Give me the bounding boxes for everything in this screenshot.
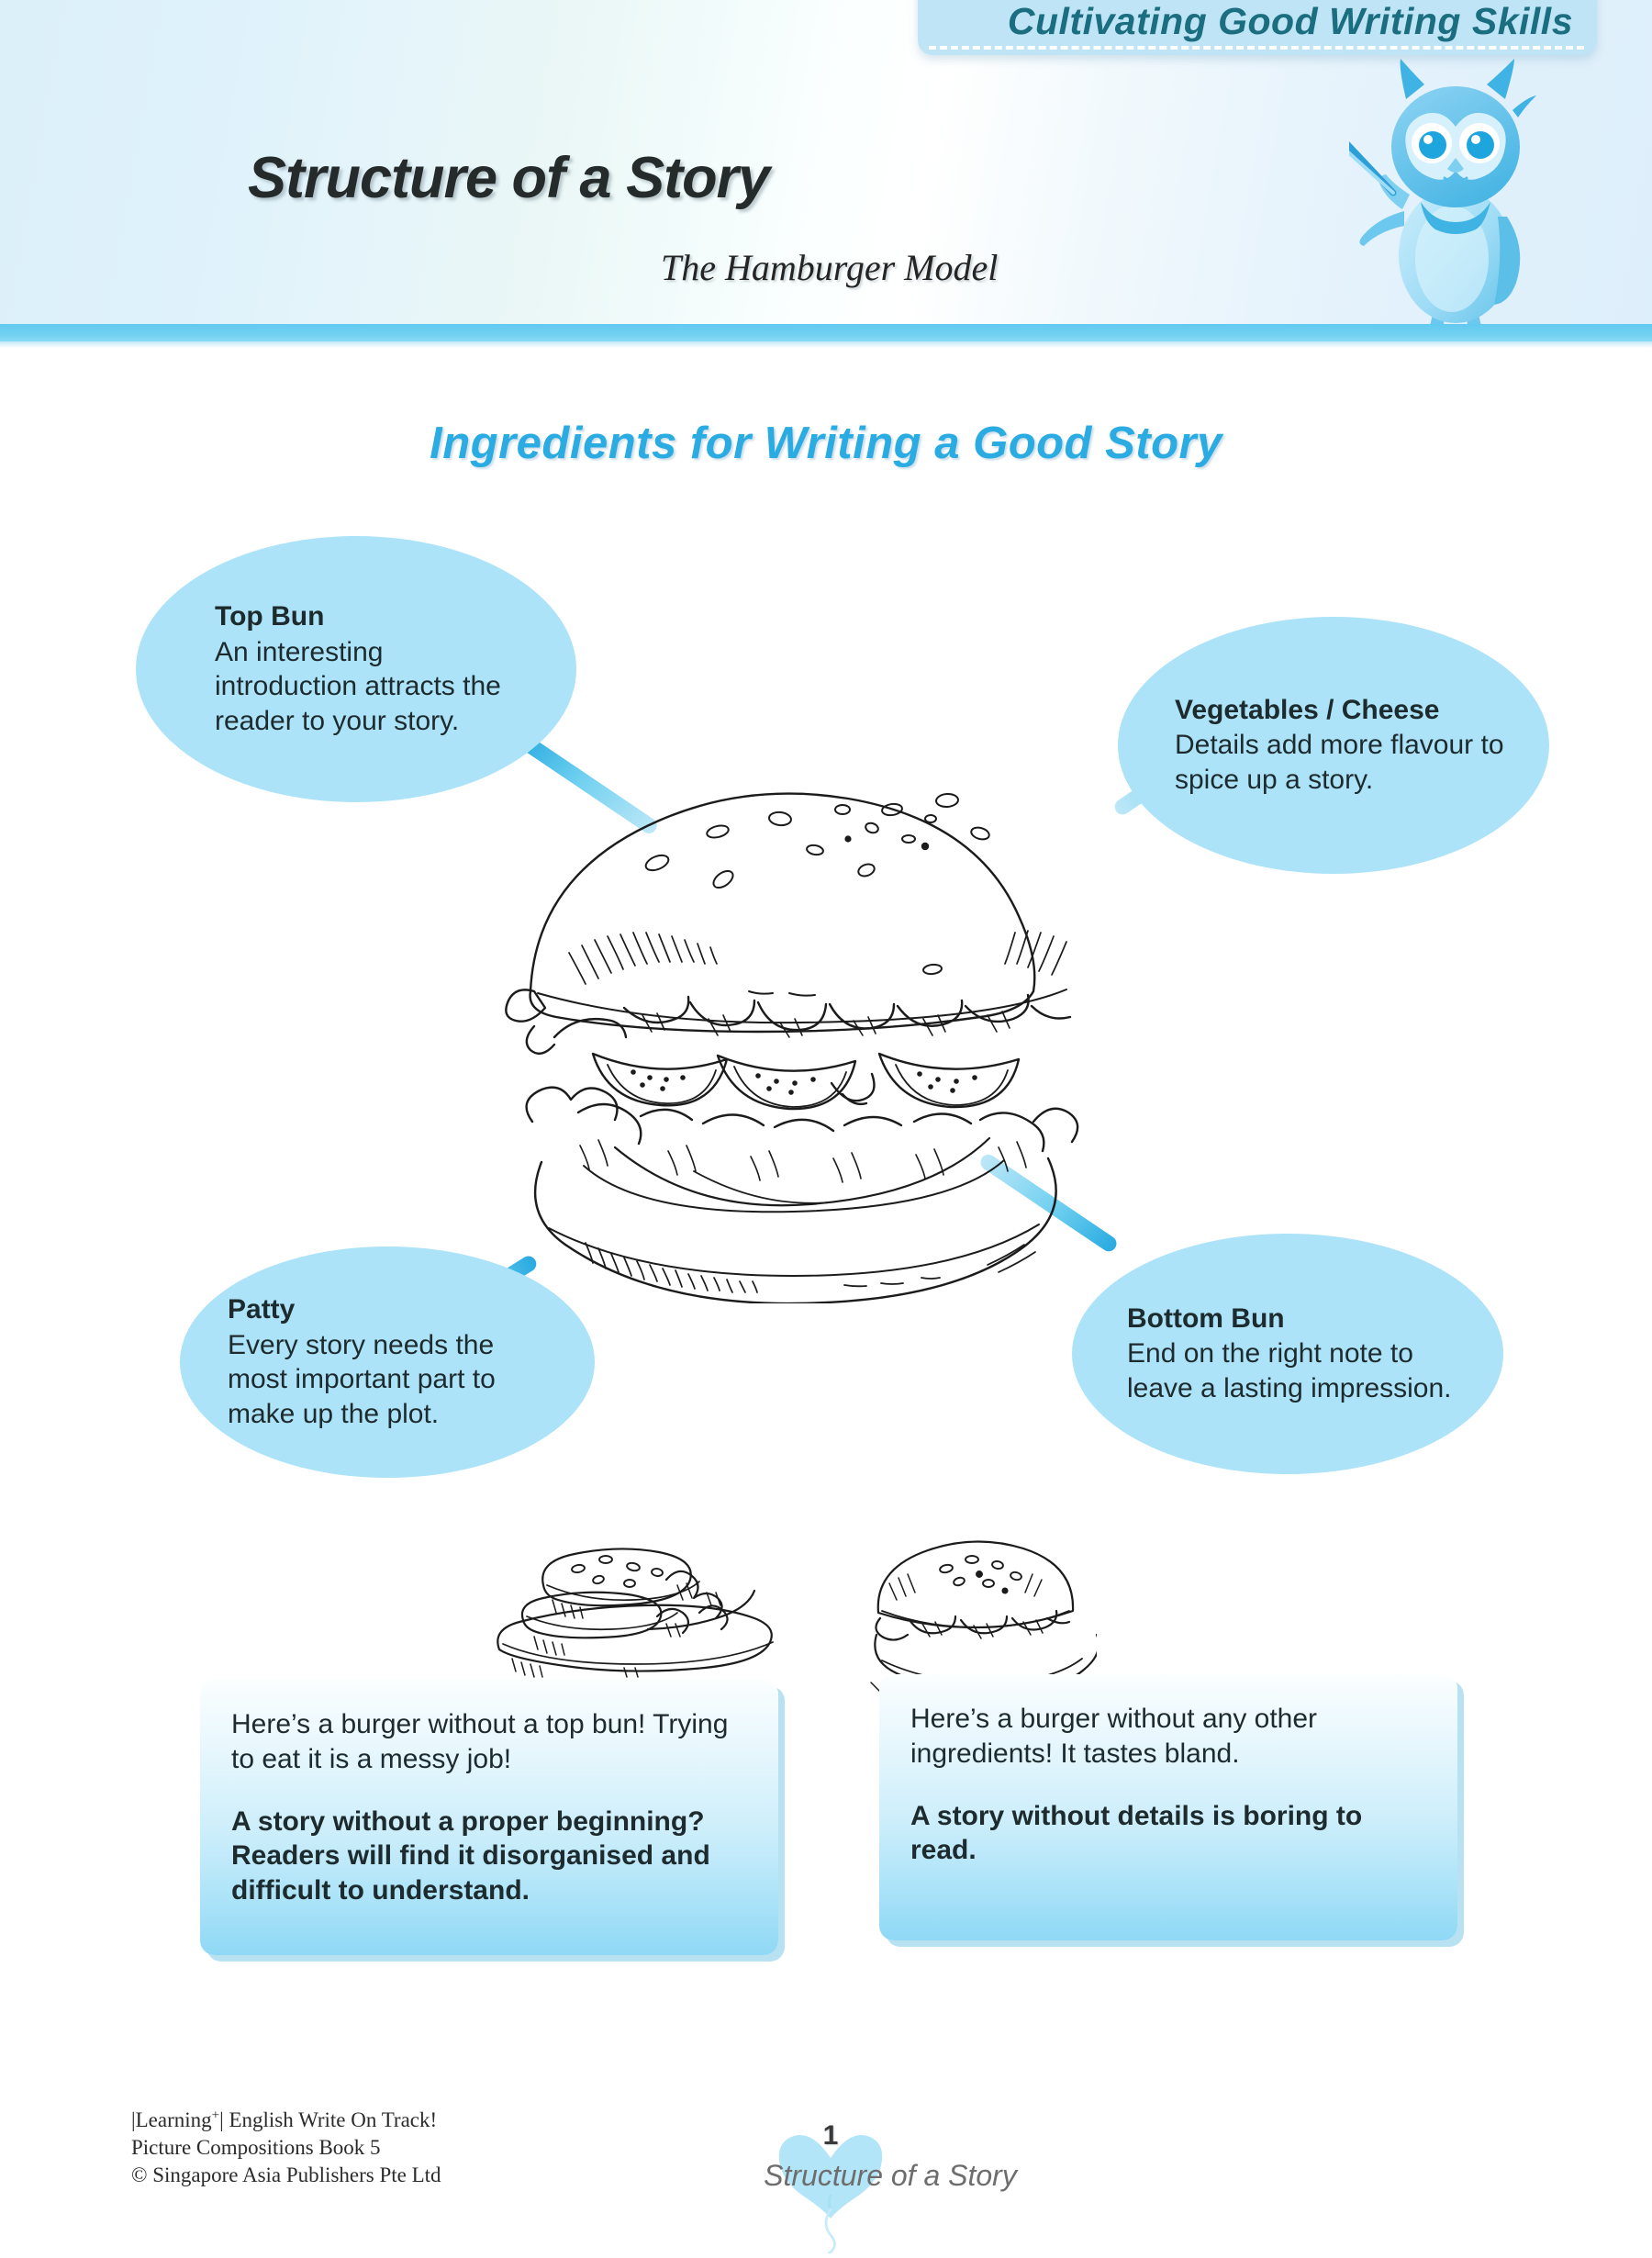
callout-title: Patty [228,1293,551,1327]
comparison-panel-no-ingredients: Here’s a burger without any other ingred… [879,1674,1457,1940]
panel-plain-text: Here’s a burger without a top bun! Tryin… [231,1707,747,1777]
panel-bold-text: A story without details is boring to rea… [910,1799,1426,1869]
callout-title: Bottom Bun [1127,1302,1467,1336]
comparison-panel-no-top-bun: Here’s a burger without a top bun! Tryin… [200,1680,778,1955]
callout-text: End on the right note to leave a lasting… [1127,1336,1467,1405]
callout-title: Vegetables / Cheese [1175,694,1512,728]
panel-bold-text: A story without a proper beginning? Read… [231,1805,747,1908]
callout-bottom-bun: Bottom Bun End on the right note to leav… [1072,1234,1503,1474]
callout-top-bun: Top Bun An interesting introduction attr… [136,536,576,802]
credit-pre: |Learning [131,2108,212,2131]
page-title: Structure of a Story [248,145,769,211]
callout-text: Details add more flavour to spice up a s… [1175,728,1512,797]
callout-title: Top Bun [215,600,523,634]
callout-vegetables-cheese: Vegetables / Cheese Details add more fla… [1118,617,1549,874]
header-accent-band [0,324,1652,341]
tab-dashed-divider [929,46,1584,50]
footer-title: Structure of a Story [707,2159,1074,2193]
skills-tab-label: Cultivating Good Writing Skills [918,0,1573,43]
page-subtitle: The Hamburger Model [661,246,998,289]
page-number: 1 [776,2120,886,2152]
open-burger-sketch [486,1528,780,1703]
footer-credits: |Learning+| English Write On Track! Pict… [131,2107,441,2189]
section-heading: Ingredients for Writing a Good Story [0,418,1652,469]
credit-line-2: Picture Compositions Book 5 [131,2134,441,2162]
page-header: Cultivating Good Writing Skills Structur… [0,0,1652,341]
credit-sup: + [212,2107,219,2122]
callout-patty: Patty Every story needs the most importa… [180,1246,595,1478]
skills-tab: Cultivating Good Writing Skills [918,0,1597,55]
credit-post: | English Write On Track! [219,2108,437,2131]
callout-text: An interesting introduction attracts the… [215,635,523,739]
callout-text: Every story needs the most important par… [228,1328,551,1432]
credit-line-1: |Learning+| English Write On Track! [131,2107,441,2134]
owl-mascot-icon [1349,55,1560,349]
panel-plain-text: Here’s a burger without any other ingred… [910,1702,1426,1772]
credit-line-3: © Singapore Asia Publishers Pte Ltd [131,2162,441,2189]
hamburger-illustration [477,762,1129,1303]
